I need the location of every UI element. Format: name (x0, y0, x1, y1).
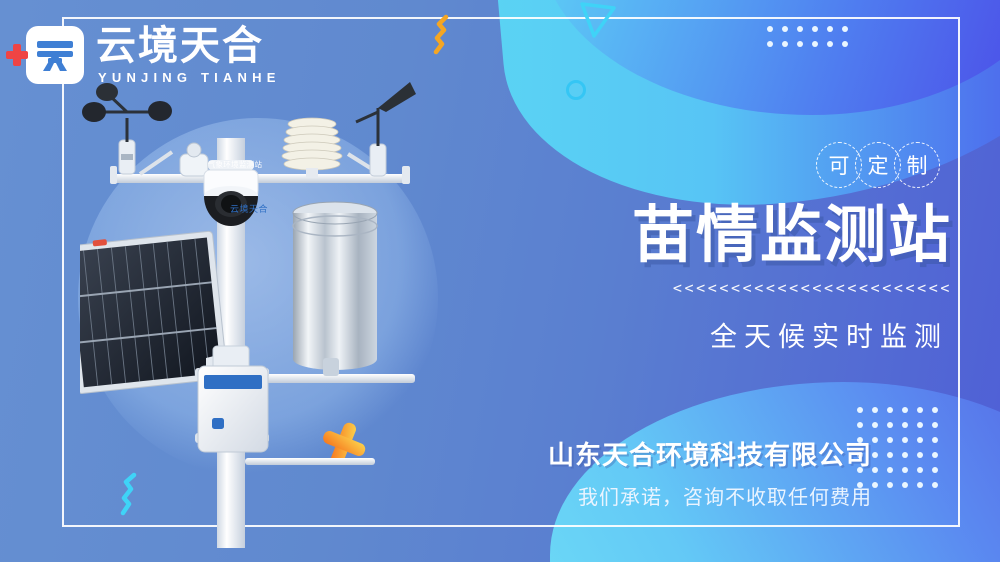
company-promise: 我们承诺，咨询不收取任何费用 (548, 481, 872, 510)
footer-text-block: 山东天合环境科技有限公司 我们承诺，咨询不收取任何费用 (548, 435, 872, 510)
top-right-wave-shape-2 (540, 0, 1000, 115)
company-name: 山东天合环境科技有限公司 (548, 435, 872, 472)
wind-vane-icon (356, 82, 416, 176)
chevron-divider-icon: <<<<<<<<<<<<<<<<<<<<<<<< (552, 279, 952, 297)
hero-text-block: 可 定 制 苗情监测站 <<<<<<<<<<<<<<<<<<<<<<<< 全天候… (552, 142, 952, 354)
dot-grid-top (767, 26, 848, 47)
hero-headline: 苗情监测站 (552, 202, 952, 267)
control-box-icon (195, 366, 269, 452)
small-sensor-icon (180, 143, 208, 176)
cyan-triangle-icon (578, 2, 618, 45)
orange-zigzag-icon (430, 14, 464, 61)
hero-subheadline: 全天候实时监测 (552, 315, 952, 354)
brand-logo: 云境天合 YUNJING TIANHE (26, 26, 281, 84)
red-plus-icon (6, 44, 28, 66)
brand-name-cn: 云境天合 (96, 26, 281, 66)
weather-station-illustration: 气象环境监测站 云境天合 (80, 78, 480, 548)
brand-name-en: YUNJING TIANHE (96, 71, 281, 84)
customizable-badges: 可 定 制 (552, 142, 940, 188)
control-box-label: 气象环境监测站 (206, 159, 264, 170)
yunjing-tianhe-logo-icon (26, 26, 84, 84)
rain-gauge-icon (293, 202, 377, 376)
promo-banner: 云境天合 YUNJING TIANHE (0, 0, 1000, 562)
cyan-circle-icon (566, 80, 586, 100)
badge-zhi: 制 (894, 142, 940, 188)
radiation-shield-icon (282, 118, 342, 178)
control-box-brand: 云境天合 (230, 202, 268, 215)
